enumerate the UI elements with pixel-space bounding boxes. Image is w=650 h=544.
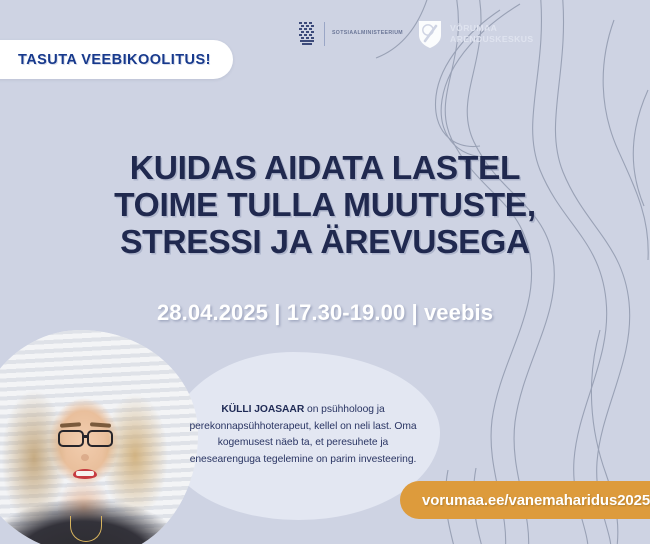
page-title: KUIDAS AIDATA LASTEL TOIME TULLA MUUTUST… — [0, 150, 650, 261]
speaker-name: KÜLLI JOASAAR — [221, 404, 304, 415]
glasses-icon-left-lens — [58, 430, 84, 447]
estonian-coat-of-arms-icon — [297, 21, 317, 47]
glasses-icon-bridge — [83, 435, 89, 438]
portrait-eyebrow-left — [60, 422, 81, 427]
event-dateline: 28.04.2025 | 17.30-19.00 | veebis — [0, 300, 650, 326]
headline-line-1: KUIDAS AIDATA LASTEL — [0, 150, 650, 187]
speaker-portrait-photo — [0, 330, 198, 544]
logo-vorumaa: VÕRUMAA ARENDUSKESKUS — [417, 17, 534, 51]
free-webinar-badge: TASUTA VEEBIKOOLITUS! — [0, 40, 233, 79]
shield-icon — [417, 19, 443, 49]
registration-url-label: vorumaa.ee/vanemaharidus2025 — [422, 492, 650, 509]
logo-bar: SOTSIAALMINISTEERIUM VÕRUMAA ARENDUSKESK… — [297, 17, 534, 51]
speaker-portrait-image — [0, 330, 198, 544]
vorumaa-logo-line2: ARENDUSKESKUS — [450, 34, 534, 44]
vorumaa-logo-label: VÕRUMAA ARENDUSKESKUS — [450, 23, 534, 44]
headline-line-2: TOIME TULLA MUUTUSTE, — [0, 187, 650, 224]
portrait-teeth — [76, 471, 94, 476]
logo-divider — [324, 22, 325, 46]
free-webinar-badge-label: TASUTA VEEBIKOOLITUS! — [18, 52, 211, 68]
portrait-nose — [81, 454, 89, 461]
logo-ministry: SOTSIAALMINISTEERIUM — [297, 17, 403, 51]
vorumaa-logo-line1: VÕRUMAA — [450, 23, 497, 33]
webinar-poster: SOTSIAALMINISTEERIUM VÕRUMAA ARENDUSKESK… — [0, 0, 650, 544]
glasses-icon-right-lens — [87, 430, 113, 447]
headline-line-3: STRESSI JA ÄREVUSEGA — [0, 224, 650, 261]
portrait-eyebrow-right — [90, 422, 111, 427]
ministry-logo-label: SOTSIAALMINISTEERIUM — [332, 30, 403, 38]
registration-url-button[interactable]: vorumaa.ee/vanemaharidus2025 — [400, 481, 650, 519]
portrait-necklace — [70, 516, 102, 542]
speaker-bio: KÜLLI JOASAAR on psühholoog ja perekonna… — [186, 402, 420, 468]
